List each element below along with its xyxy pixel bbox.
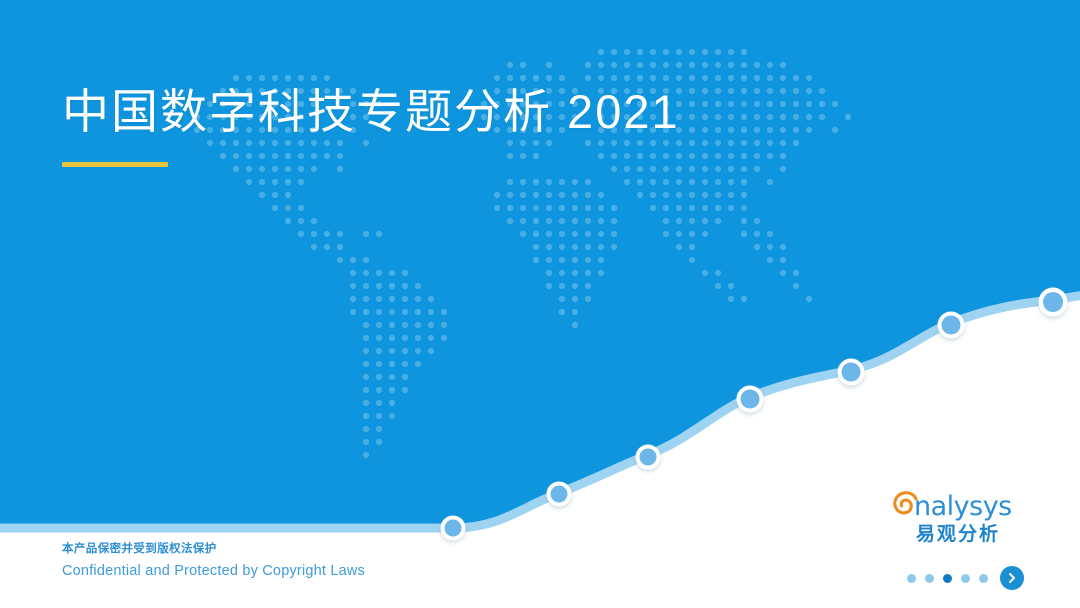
title-block: 中国数字科技专题分析 2021 <box>62 84 922 167</box>
chart-marker <box>547 482 572 507</box>
logo-mark: nalysys <box>892 491 1024 523</box>
page-title: 中国数字科技专题分析 2021 <box>62 84 922 140</box>
chart-marker <box>636 445 661 470</box>
logo-swoosh-icon <box>892 490 922 520</box>
pagination-dot[interactable] <box>907 574 916 583</box>
confidential-notice-en: Confidential and Protected by Copyright … <box>62 561 365 582</box>
cover-slide: 中国数字科技专题分析 2021 本产品保密并受到版权法保护 Confidenti… <box>0 0 1080 608</box>
logo-wordmark: nalysys <box>914 492 1012 522</box>
chart-marker <box>938 312 965 339</box>
pagination-dot-active[interactable] <box>943 574 952 583</box>
analysys-logo: nalysys 易观分析 <box>892 491 1024 546</box>
pagination-dot[interactable] <box>979 574 988 583</box>
chart-marker <box>441 516 466 541</box>
title-underline-accent <box>62 162 168 167</box>
logo-chinese-name: 易观分析 <box>892 524 1024 546</box>
confidential-notice: 本产品保密并受到版权法保护 Confidential and Protected… <box>62 541 365 582</box>
confidential-notice-cn: 本产品保密并受到版权法保护 <box>62 541 365 558</box>
chart-marker <box>737 386 764 413</box>
slide-pagination[interactable] <box>907 566 1024 590</box>
pagination-dot[interactable] <box>961 574 970 583</box>
chevron-right-icon <box>1006 572 1018 584</box>
next-slide-button[interactable] <box>1000 566 1024 590</box>
chart-marker <box>1039 288 1068 317</box>
chart-marker <box>838 359 865 386</box>
pagination-dot[interactable] <box>925 574 934 583</box>
